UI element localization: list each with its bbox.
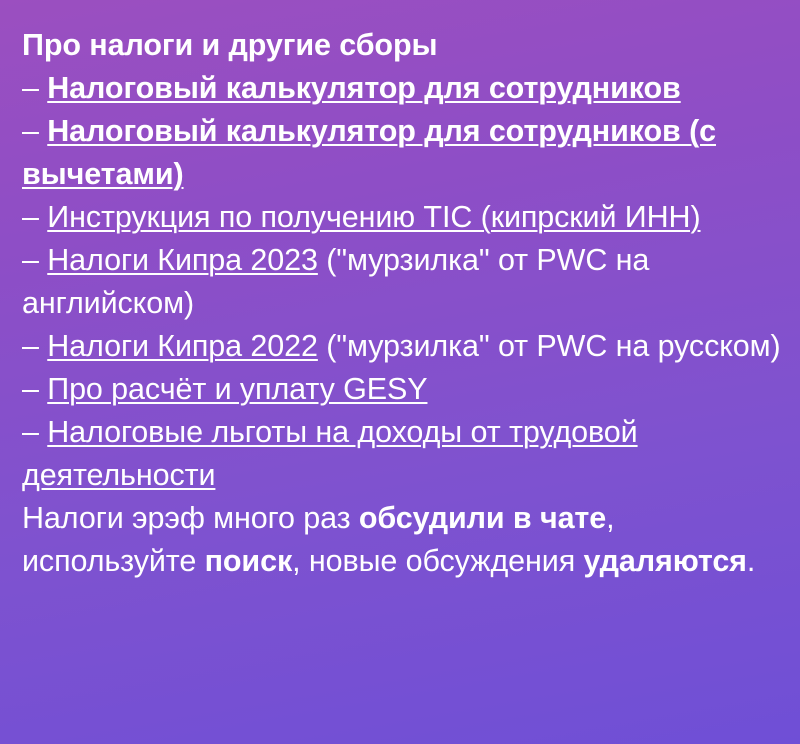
link-tic-instruction[interactable]: Инструкция по получению TIC (кипрский ИН… — [47, 200, 700, 234]
bullet-dash: – — [22, 71, 39, 105]
footnote-paragraph: Налоги эрэф много раз обсудили в чате, и… — [22, 497, 782, 583]
list-item: – Налоговый калькулятор для сотрудников … — [22, 110, 782, 196]
link-cyprus-taxes-2022[interactable]: Налоги Кипра 2022 — [47, 329, 318, 363]
list-item: – Инструкция по получению TIC (кипрский … — [22, 196, 782, 239]
footnote-text-3: , новые обсуждения — [292, 544, 583, 578]
page-title: Про налоги и другие сборы — [22, 24, 782, 67]
link-tax-calculator-employees-deductions[interactable]: Налоговый калькулятор для сотрудников (с… — [22, 114, 716, 191]
bullet-dash: – — [22, 415, 39, 449]
footnote-bold-deleted: удаляются — [584, 544, 747, 578]
footnote-bold-search: поиск — [205, 544, 293, 578]
footnote-text-1: Налоги эрэф много раз — [22, 501, 359, 535]
bullet-dash: – — [22, 329, 39, 363]
footnote-bold-discussed-in-chat: обсудили в чате — [359, 501, 606, 535]
list-item: – Про расчёт и уплату GESY — [22, 368, 782, 411]
list-item: – Налоговые льготы на доходы от трудовой… — [22, 411, 782, 497]
bullet-dash: – — [22, 114, 39, 148]
list-item-trailing-text: ("мурзилка" от PWC на русском) — [318, 329, 781, 363]
bullet-dash: – — [22, 243, 39, 277]
link-cyprus-taxes-2023[interactable]: Налоги Кипра 2023 — [47, 243, 318, 277]
link-gesy-calculation-payment[interactable]: Про расчёт и уплату GESY — [47, 372, 427, 406]
link-tax-calculator-employees[interactable]: Налоговый калькулятор для сотрудников — [47, 71, 680, 105]
list-item: – Налоги Кипра 2022 ("мурзилка" от PWC н… — [22, 325, 782, 368]
message-card: Про налоги и другие сборы – Налоговый ка… — [0, 0, 800, 744]
link-employment-income-tax-benefits[interactable]: Налоговые льготы на доходы от трудовой д… — [22, 415, 638, 492]
bullet-dash: – — [22, 372, 39, 406]
bullet-dash: – — [22, 200, 39, 234]
message-body: Про налоги и другие сборы – Налоговый ка… — [22, 24, 782, 583]
list-item: – Налоги Кипра 2023 ("мурзилка" от PWC н… — [22, 239, 782, 325]
footnote-text-4: . — [747, 544, 755, 578]
list-item: – Налоговый калькулятор для сотрудников — [22, 67, 782, 110]
